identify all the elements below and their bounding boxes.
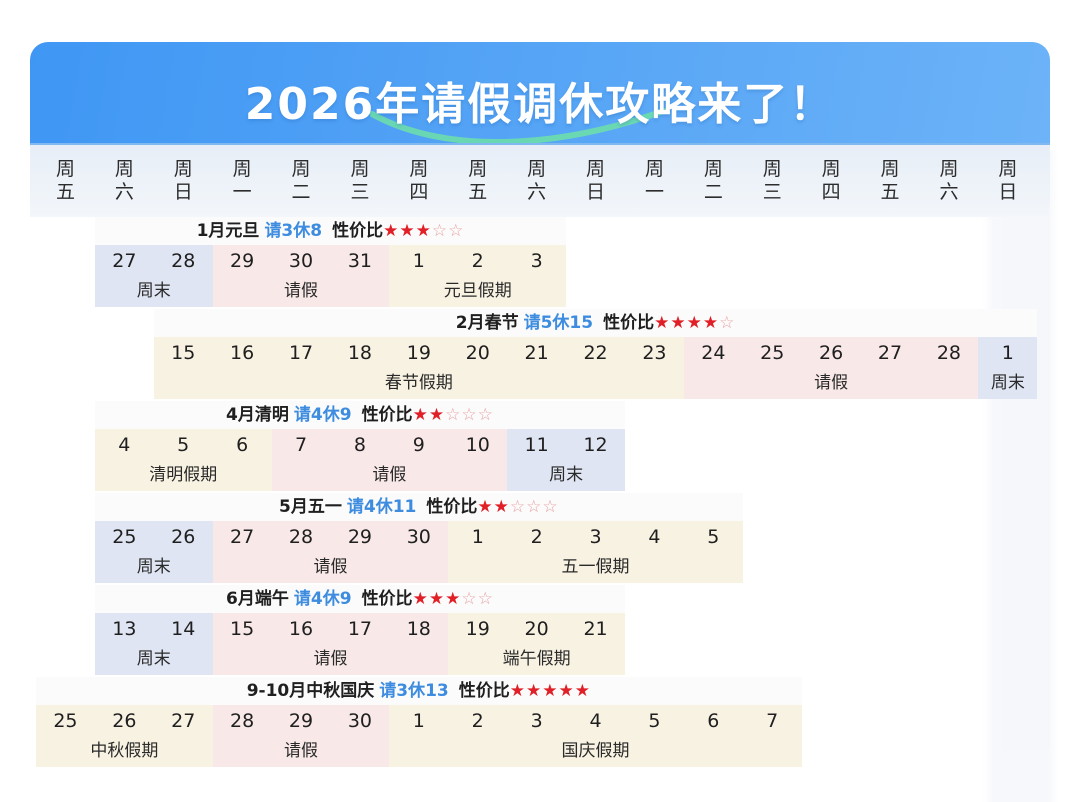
segment-label: 元旦假期	[389, 276, 566, 301]
holiday-row: 6月端午请4休9性价比★★★☆☆1314周末15161718请假192021端午…	[30, 585, 1050, 677]
day-number: 23	[625, 340, 684, 366]
value-ratio-label: 性价比	[362, 589, 413, 609]
day-segment-leave[interactable]: 2425262728请假	[684, 337, 979, 399]
weekday-prefix: 周	[586, 158, 605, 181]
star-filled-icon: ★	[654, 313, 670, 333]
day-number: 27	[213, 524, 272, 550]
day-number: 13	[95, 616, 154, 642]
star-filled-icon: ★	[416, 221, 432, 241]
day-number: 30	[330, 708, 389, 734]
leave-plan-label: 请4休11	[347, 497, 417, 517]
star-empty-icon: ☆	[445, 405, 461, 425]
day-number: 5	[154, 432, 213, 458]
day-number: 11	[507, 432, 566, 458]
weekday-prefix: 周	[881, 158, 900, 181]
day-number: 19	[389, 340, 448, 366]
star-filled-icon: ★	[399, 221, 415, 241]
rating-stars: ★★★★★	[510, 681, 591, 701]
day-number: 6	[684, 708, 743, 734]
weekday-header-cell: 周二	[684, 145, 743, 217]
weekday-suffix: 二	[292, 181, 311, 204]
star-empty-icon: ☆	[432, 221, 448, 241]
star-filled-icon: ★	[477, 497, 493, 517]
segment-label: 清明假期	[95, 460, 272, 485]
day-number: 1	[389, 248, 448, 274]
weekday-suffix: 六	[939, 181, 958, 204]
star-empty-icon: ☆	[478, 405, 494, 425]
day-number: 14	[154, 616, 213, 642]
holiday-row-title: 5月五一请4休11性价比★★☆☆☆	[95, 493, 743, 521]
holiday-row-title: 6月端午请4休9性价比★★★☆☆	[95, 585, 625, 613]
weekday-suffix: 日	[998, 181, 1017, 204]
day-number: 3	[566, 524, 625, 550]
day-number: 4	[625, 524, 684, 550]
weekday-suffix: 二	[704, 181, 723, 204]
day-segment-holiday[interactable]: 12345五一假期	[448, 521, 743, 583]
day-number: 29	[213, 248, 272, 274]
page-title: 2026年请假调休攻略来了！	[30, 68, 1050, 132]
weekday-prefix: 周	[468, 158, 487, 181]
day-number: 3	[507, 708, 566, 734]
star-filled-icon: ★	[429, 405, 445, 425]
star-empty-icon: ☆	[478, 589, 494, 609]
segment-label: 周末	[95, 276, 213, 301]
star-empty-icon: ☆	[542, 497, 558, 517]
weekday-suffix: 一	[233, 181, 252, 204]
star-filled-icon: ★	[494, 497, 510, 517]
segment-label: 中秋假期	[36, 736, 213, 761]
day-number: 2	[448, 708, 507, 734]
weekday-header-cell: 周六	[920, 145, 979, 217]
day-number: 25	[95, 524, 154, 550]
day-segment-weekend[interactable]: 1314周末	[95, 613, 213, 675]
weekday-header-cell: 周三	[743, 145, 802, 217]
star-filled-icon: ★	[703, 313, 719, 333]
weekday-suffix: 三	[763, 181, 782, 204]
day-number: 24	[684, 340, 743, 366]
segment-label: 请假	[213, 276, 390, 301]
weekday-header-cell: 周四	[389, 145, 448, 217]
day-number: 1	[389, 708, 448, 734]
holiday-name: 6月端午	[226, 589, 289, 609]
value-ratio-label: 性价比	[603, 313, 654, 333]
rating-stars: ★★☆☆☆	[413, 405, 494, 425]
weekday-header-cell: 周一	[625, 145, 684, 217]
day-number: 30	[389, 524, 448, 550]
rating-stars: ★★★★☆	[654, 313, 735, 333]
holiday-row-title: 2月春节请5休15性价比★★★★☆	[154, 309, 1038, 337]
star-filled-icon: ★	[526, 681, 542, 701]
weekday-header-cell: 周三	[331, 145, 390, 217]
weekday-prefix: 周	[350, 158, 369, 181]
weekday-suffix: 六	[115, 181, 134, 204]
segment-label: 周末	[507, 460, 625, 485]
weekday-prefix: 周	[292, 158, 311, 181]
star-filled-icon: ★	[429, 589, 445, 609]
day-number: 2	[448, 248, 507, 274]
day-number: 7	[272, 432, 331, 458]
day-number: 27	[861, 340, 920, 366]
weekday-header-cell: 周日	[978, 145, 1037, 217]
weekday-prefix: 周	[409, 158, 428, 181]
star-filled-icon: ★	[558, 681, 574, 701]
day-number: 28	[272, 524, 331, 550]
day-number: 28	[213, 708, 272, 734]
holiday-name: 1月元旦	[197, 221, 260, 241]
day-number: 25	[36, 708, 95, 734]
weekday-header-cell: 周日	[566, 145, 625, 217]
star-filled-icon: ★	[542, 681, 558, 701]
day-segment-holiday[interactable]: 1234567国庆假期	[389, 705, 801, 767]
weekday-header-cell: 周六	[95, 145, 154, 217]
day-number: 28	[154, 248, 213, 274]
star-filled-icon: ★	[575, 681, 591, 701]
day-number: 30	[272, 248, 331, 274]
weekday-header-cell: 周一	[213, 145, 272, 217]
weekday-suffix: 六	[527, 181, 546, 204]
day-number: 27	[154, 708, 213, 734]
day-number: 3	[507, 248, 566, 274]
day-segment-holiday[interactable]: 252627中秋假期	[36, 705, 213, 767]
holiday-row: 9-10月中秋国庆请3休13性价比★★★★★252627中秋假期282930请假…	[30, 677, 1050, 769]
weekday-suffix: 三	[350, 181, 369, 204]
segment-label: 请假	[213, 736, 390, 761]
day-number: 19	[448, 616, 507, 642]
weekday-prefix: 周	[645, 158, 664, 181]
day-segment-leave[interactable]: 293031请假	[213, 245, 390, 307]
holiday-row-title: 9-10月中秋国庆请3休13性价比★★★★★	[36, 677, 802, 705]
weekday-suffix: 四	[822, 181, 841, 204]
weekday-header-row: 周五周六周日周一周二周三周四周五周六周日周一周二周三周四周五周六周日	[30, 143, 1050, 217]
day-number: 21	[566, 616, 625, 642]
day-number: 12	[566, 432, 625, 458]
day-segment-leave[interactable]: 78910请假	[272, 429, 508, 491]
weekday-prefix: 周	[763, 158, 782, 181]
poster-header: 2026年请假调休攻略来了！	[30, 42, 1050, 143]
day-number: 26	[802, 340, 861, 366]
value-ratio-label: 性价比	[362, 405, 413, 425]
day-number: 26	[154, 524, 213, 550]
segment-label: 请假	[684, 368, 979, 393]
day-segment-weekend[interactable]: 2526周末	[95, 521, 213, 583]
day-number: 10	[448, 432, 507, 458]
day-number: 4	[566, 708, 625, 734]
weekday-suffix: 一	[645, 181, 664, 204]
star-filled-icon: ★	[510, 681, 526, 701]
weekday-prefix: 周	[998, 158, 1017, 181]
leave-plan-label: 请5休15	[524, 313, 594, 333]
day-number: 28	[919, 340, 978, 366]
day-number: 15	[154, 340, 213, 366]
day-segment-holiday[interactable]: 192021端午假期	[448, 613, 625, 675]
day-number: 2	[507, 524, 566, 550]
weekday-header-cell: 周六	[507, 145, 566, 217]
day-number: 21	[507, 340, 566, 366]
holiday-row-title: 1月元旦请3休8性价比★★★☆☆	[95, 217, 566, 245]
weekday-prefix: 周	[704, 158, 723, 181]
weekday-prefix: 周	[939, 158, 958, 181]
star-filled-icon: ★	[670, 313, 686, 333]
weekday-suffix: 日	[586, 181, 605, 204]
day-number: 31	[330, 248, 389, 274]
day-number: 20	[448, 340, 507, 366]
holiday-name: 9-10月中秋国庆	[247, 681, 375, 701]
day-number: 18	[389, 616, 448, 642]
day-number: 7	[743, 708, 802, 734]
day-segment-leave[interactable]: 27282930请假	[213, 521, 449, 583]
day-number: 20	[507, 616, 566, 642]
day-segment-holiday[interactable]: 456清明假期	[95, 429, 272, 491]
day-number: 9	[389, 432, 448, 458]
day-number: 16	[213, 340, 272, 366]
holiday-name: 2月春节	[456, 313, 519, 333]
day-number: 29	[330, 524, 389, 550]
star-empty-icon: ☆	[510, 497, 526, 517]
holiday-row-title: 4月清明请4休9性价比★★☆☆☆	[95, 401, 625, 429]
holiday-name: 5月五一	[279, 497, 342, 517]
weekday-suffix: 五	[468, 181, 487, 204]
day-number: 8	[330, 432, 389, 458]
weekday-suffix: 五	[56, 181, 75, 204]
day-number: 18	[330, 340, 389, 366]
day-number: 16	[272, 616, 331, 642]
star-filled-icon: ★	[383, 221, 399, 241]
weekday-prefix: 周	[527, 158, 546, 181]
weekday-prefix: 周	[115, 158, 134, 181]
day-segment-leave[interactable]: 282930请假	[213, 705, 390, 767]
day-number: 15	[213, 616, 272, 642]
weekday-header-cell: 周四	[802, 145, 861, 217]
day-number: 5	[684, 524, 743, 550]
segment-label: 五一假期	[448, 552, 743, 577]
weekday-prefix: 周	[233, 158, 252, 181]
segment-label: 端午假期	[448, 644, 625, 669]
day-segment-weekend[interactable]: 2728周末	[95, 245, 213, 307]
holiday-name: 4月清明	[226, 405, 289, 425]
holiday-planner-poster: 2026年请假调休攻略来了！ 周五周六周日周一周二周三周四周五周六周日周一周二周…	[30, 42, 1050, 794]
star-filled-icon: ★	[413, 589, 429, 609]
holiday-row: 2月春节请5休15性价比★★★★☆151617181920212223春节假期2…	[30, 309, 1050, 401]
day-number: 6	[213, 432, 272, 458]
star-empty-icon: ☆	[461, 405, 477, 425]
holiday-row: 4月清明请4休9性价比★★☆☆☆456清明假期78910请假1112周末	[30, 401, 1050, 493]
weekday-header-cell: 周五	[448, 145, 507, 217]
day-number: 25	[743, 340, 802, 366]
leave-plan-label: 请4休9	[294, 405, 352, 425]
value-ratio-label: 性价比	[332, 221, 383, 241]
star-empty-icon: ☆	[461, 589, 477, 609]
day-segment-weekend[interactable]: 1112周末	[507, 429, 625, 491]
leave-plan-label: 请4休9	[294, 589, 352, 609]
calendar-grid: 1月元旦请3休8性价比★★★☆☆2728周末293031请假123元旦假期2月春…	[30, 217, 1050, 796]
segment-label: 国庆假期	[389, 736, 801, 761]
weekday-suffix: 四	[409, 181, 428, 204]
day-number: 26	[95, 708, 154, 734]
day-segment-leave[interactable]: 15161718请假	[213, 613, 449, 675]
leave-plan-label: 请3休8	[264, 221, 322, 241]
segment-label: 春节假期	[154, 368, 684, 393]
star-filled-icon: ★	[687, 313, 703, 333]
day-number: 17	[272, 340, 331, 366]
holiday-row: 1月元旦请3休8性价比★★★☆☆2728周末293031请假123元旦假期	[30, 217, 1050, 309]
day-number: 1	[978, 340, 1037, 366]
weekday-suffix: 五	[881, 181, 900, 204]
weekday-header-cell: 周日	[154, 145, 213, 217]
segment-label: 周末	[95, 552, 213, 577]
weekday-header-cell: 周五	[36, 145, 95, 217]
star-empty-icon: ☆	[719, 313, 735, 333]
weekday-prefix: 周	[174, 158, 193, 181]
holiday-row: 5月五一请4休11性价比★★☆☆☆2526周末27282930请假12345五一…	[30, 493, 1050, 585]
star-empty-icon: ☆	[448, 221, 464, 241]
day-segment-holiday[interactable]: 123元旦假期	[389, 245, 566, 307]
value-ratio-label: 性价比	[459, 681, 510, 701]
weekday-suffix: 日	[174, 181, 193, 204]
day-number: 17	[330, 616, 389, 642]
rating-stars: ★★☆☆☆	[477, 497, 558, 517]
day-number: 1	[448, 524, 507, 550]
segment-label: 周末	[978, 368, 1037, 393]
rating-stars: ★★★☆☆	[383, 221, 464, 241]
day-number: 29	[272, 708, 331, 734]
day-number: 22	[566, 340, 625, 366]
leave-plan-label: 请3休13	[379, 681, 449, 701]
weekday-prefix: 周	[56, 158, 75, 181]
star-filled-icon: ★	[413, 405, 429, 425]
day-number: 4	[95, 432, 154, 458]
segment-label: 请假	[272, 460, 508, 485]
day-segment-holiday[interactable]: 151617181920212223春节假期	[154, 337, 684, 399]
rating-stars: ★★★☆☆	[413, 589, 494, 609]
weekday-header-cell: 周二	[272, 145, 331, 217]
segment-label: 请假	[213, 644, 449, 669]
star-filled-icon: ★	[445, 589, 461, 609]
day-number: 5	[625, 708, 684, 734]
segment-label: 请假	[213, 552, 449, 577]
day-segment-weekend[interactable]: 1周末	[978, 337, 1037, 399]
value-ratio-label: 性价比	[426, 497, 477, 517]
star-empty-icon: ☆	[526, 497, 542, 517]
segment-label: 周末	[95, 644, 213, 669]
weekday-header-cell: 周五	[861, 145, 920, 217]
weekday-prefix: 周	[822, 158, 841, 181]
day-number: 27	[95, 248, 154, 274]
